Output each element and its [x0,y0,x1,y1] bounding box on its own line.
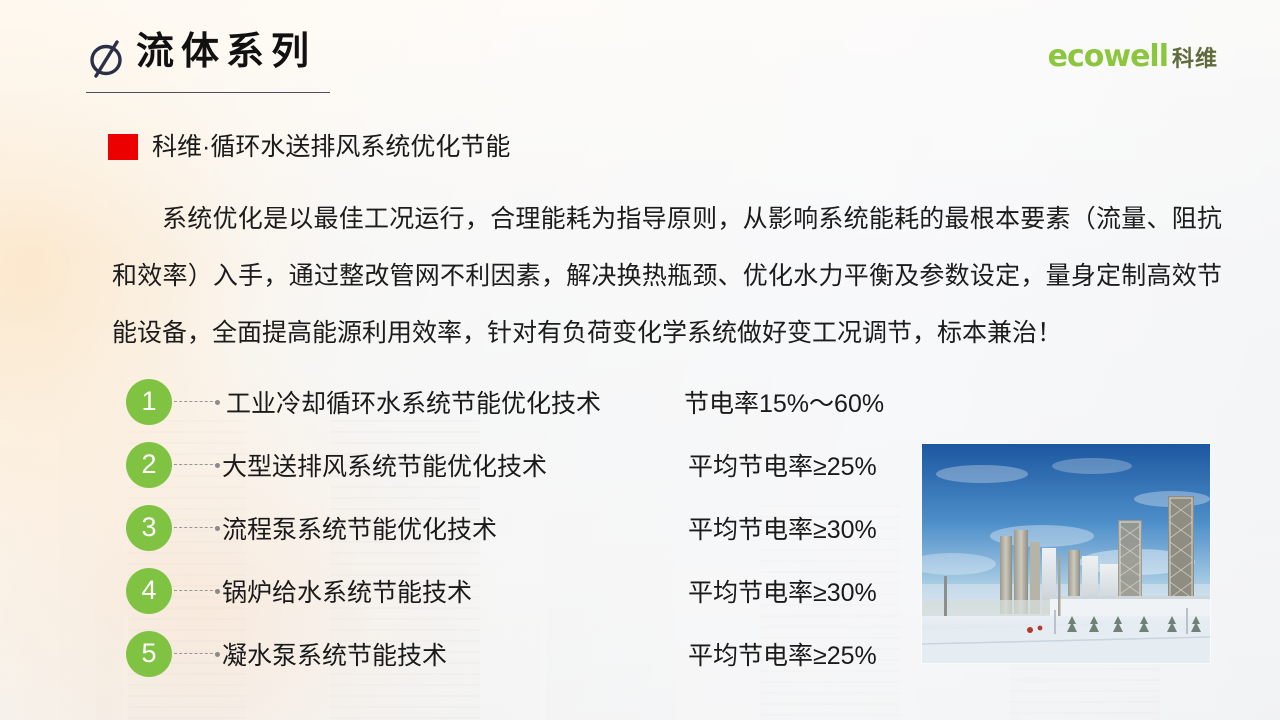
connector-dotted-line [174,590,218,591]
connector-dotted-line [174,653,218,654]
title-underline [86,92,330,93]
red-square-bullet-icon [108,134,138,160]
list-item-label: 流程泵系统节能优化技术 [222,510,497,546]
technology-list: 1 工业冷却循环水系统节能优化技术 节电率15%～60% 2 大型送排风系统节能… [126,370,926,685]
page-title: 流体系列 [136,33,316,71]
list-item[interactable]: 5 凝水泵系统节能技术 平均节电率≥25% [126,622,926,685]
list-number-badge: 2 [126,442,172,488]
list-item[interactable]: 4 锅炉给水系统节能技术 平均节电率≥30% [126,559,926,622]
list-number-badge: 3 [126,505,172,551]
phi-slash-icon [88,38,126,78]
list-item-value: 平均节电率≥30% [688,510,877,546]
list-item-label: 锅炉给水系统节能技术 [222,573,472,609]
list-item[interactable]: 3 流程泵系统节能优化技术 平均节电率≥30% [126,496,926,559]
brand-logo: ecowell 科维 [1048,42,1218,72]
list-number-badge: 4 [126,568,172,614]
connector-dotted-line [174,401,218,402]
list-item-label: 大型送排风系统节能优化技术 [222,447,547,483]
logo-wordmark: ecowell [1048,42,1168,72]
list-item[interactable]: 1 工业冷却循环水系统节能优化技术 节电率15%～60% [126,370,926,433]
list-item-label: 凝水泵系统节能技术 [222,636,447,672]
list-item-label: 工业冷却循环水系统节能优化技术 [226,384,601,420]
section-heading: 科维·循环水送排风系统优化节能 [108,134,510,160]
list-item[interactable]: 2 大型送排风系统节能优化技术 平均节电率≥25% [126,433,926,496]
section-title: 科维·循环水送排风系统优化节能 [152,135,510,160]
list-item-value: 平均节电率≥30% [688,573,877,609]
list-item-value: 平均节电率≥25% [688,636,877,672]
list-number-badge: 5 [126,631,172,677]
list-item-value: 节电率15%～60% [684,384,884,420]
slide-root: 流体系列 ecowell 科维 科维·循环水送排风系统优化节能 系统优化是以最佳… [0,0,1280,720]
logo-chinese-name: 科维 [1172,48,1218,70]
body-paragraph: 系统优化是以最佳工况运行，合理能耗为指导原则，从影响系统能耗的最根本要素（流量、… [112,191,1222,362]
connector-dotted-line [174,464,218,465]
list-number-badge: 1 [126,379,172,425]
plant-photo [922,444,1210,663]
connector-dotted-line [174,527,218,528]
list-item-value: 平均节电率≥25% [688,447,877,483]
slide-header: 流体系列 ecowell 科维 [0,0,1280,104]
